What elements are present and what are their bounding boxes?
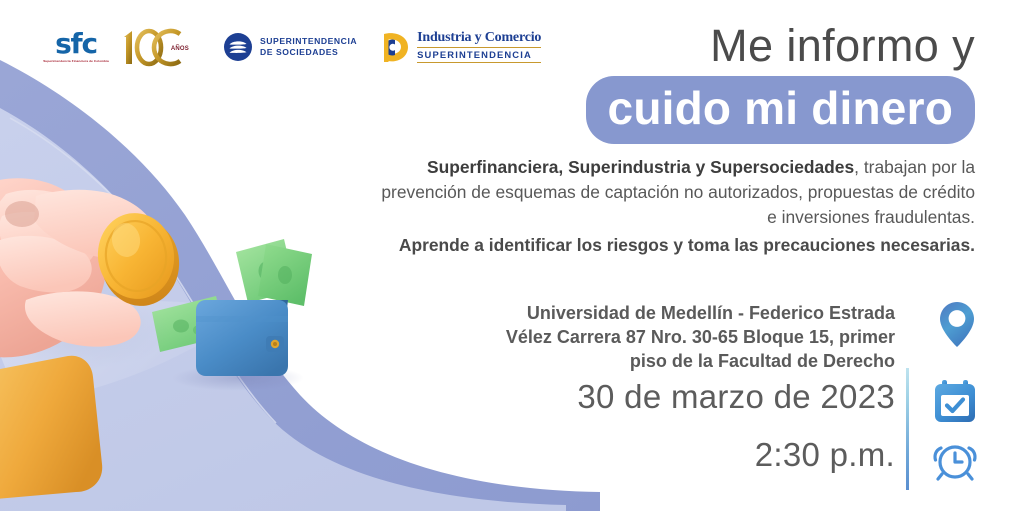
body-emphasis: Aprende a identificar los riesgos y toma… <box>375 233 975 258</box>
wallet-shadow <box>172 365 304 391</box>
sfc-subtitle: Superintendencia Financiera de Colombia <box>43 60 109 64</box>
wallet-clasp-button <box>271 340 279 348</box>
event-date: 30 de marzo de 2023 <box>577 378 895 416</box>
headline-line1: Me informo y <box>586 22 975 71</box>
100-anos-logo: AÑOS <box>118 26 190 68</box>
bg-seam-line <box>10 118 276 423</box>
alarm-clock-icon <box>931 436 979 489</box>
hand-fingers <box>0 190 155 347</box>
gold-coin <box>92 208 184 311</box>
banknotes <box>236 239 312 306</box>
wallet-inner <box>210 300 288 318</box>
supersociedades-mark-icon <box>223 32 253 62</box>
wallet-body <box>196 300 288 376</box>
sleeve <box>0 356 102 500</box>
industria-y-comercio-rule-bottom <box>417 62 541 63</box>
supersociedades-text: SUPERINTENDENCIA DE SOCIEDADES <box>260 36 357 59</box>
sfc-wordmark: sfc <box>55 30 97 58</box>
supersociedades-line2: DE SOCIEDADES <box>260 47 357 58</box>
bg-ribbon-mid <box>0 60 600 511</box>
hand-shadow <box>0 290 170 370</box>
wallet-clasp <box>266 336 284 352</box>
event-time: 2:30 p.m. <box>755 436 895 474</box>
calendar-check-icon <box>931 378 979 429</box>
index-finger <box>34 190 155 259</box>
venue-address: Universidad de Medellín - Federico Estra… <box>465 301 895 373</box>
supersociedades-line1: SUPERINTENDENCIA <box>260 36 357 47</box>
banknote-outgoing <box>152 296 226 352</box>
venue-line3: piso de la Facultad de Derecho <box>465 349 895 373</box>
body-paragraph: Superfinanciera, Superindustria y Supers… <box>375 155 975 231</box>
location-pin-icon <box>936 300 978 355</box>
industria-y-comercio-line1: Industria y Comercio <box>417 31 541 46</box>
superintendencia-de-sociedades-logo: SUPERINTENDENCIA DE SOCIEDADES <box>223 32 357 62</box>
industria-y-comercio-logo: Industria y Comercio SUPERINTENDENCIA <box>381 30 541 64</box>
industria-y-comercio-text: Industria y Comercio SUPERINTENDENCIA <box>417 31 541 63</box>
promotional-poster: sfc Superintendencia Financiera de Colom… <box>0 0 1031 511</box>
thumb <box>25 291 141 346</box>
vertical-divider <box>906 368 909 490</box>
venue-line1: Universidad de Medellín - Federico Estra… <box>465 301 895 325</box>
sfc-logo: sfc Superintendencia Financiera de Colom… <box>46 30 106 64</box>
bg-right-accent <box>990 470 1031 511</box>
hand-palm <box>0 178 106 357</box>
logo-bar: sfc Superintendencia Financiera de Colom… <box>46 26 541 68</box>
venue-line2: Vélez Carrera 87 Nro. 30-65 Bloque 15, p… <box>465 325 895 349</box>
body-paragraph-bold: Superfinanciera, Superindustria y Supers… <box>427 157 854 177</box>
100-anos-label: AÑOS <box>171 46 189 52</box>
headline: Me informo y cuido mi dinero <box>586 22 975 144</box>
industria-y-comercio-line2: SUPERINTENDENCIA <box>417 50 541 60</box>
industria-y-comercio-mark-icon <box>381 30 411 64</box>
headline-pill: cuido mi dinero <box>586 76 975 144</box>
wallet-flap <box>196 316 288 322</box>
illustration-sweep <box>0 301 250 404</box>
